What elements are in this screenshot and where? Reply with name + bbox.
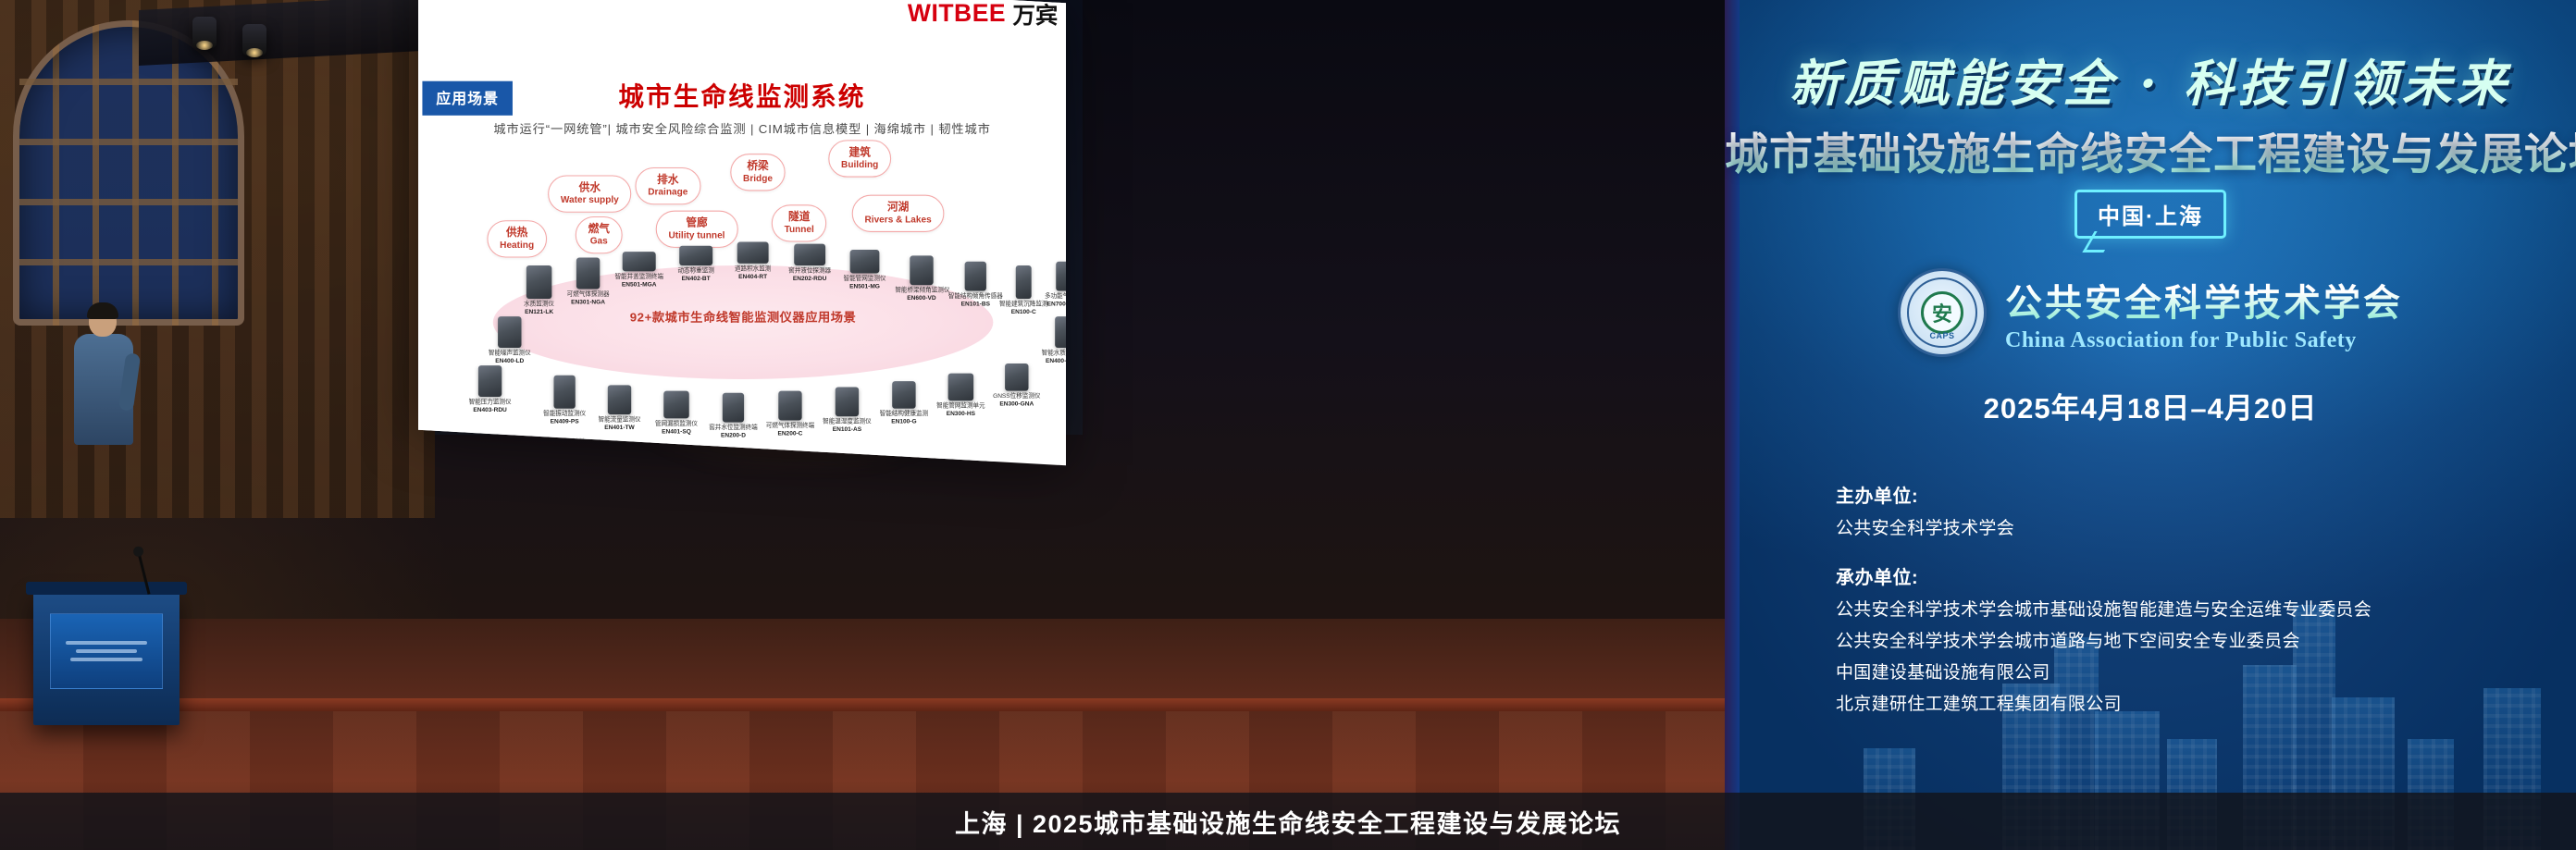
caption-bar: 上海 | 2025城市基础设施生命线安全工程建设与发展论坛 xyxy=(0,793,2576,850)
speaker-person xyxy=(72,305,137,444)
podium-text-line xyxy=(66,641,147,645)
device-item: GNSS位移监测仪 EN300-GNA xyxy=(989,363,1044,407)
caps-seal-abbr: CAPS xyxy=(1901,331,1984,340)
scenario-bubble-rivers-lakes: 河湖 Rivers & Lakes xyxy=(852,195,945,232)
device-item: 智能流量监测仪 EN401-TW xyxy=(593,385,646,431)
device-band-label: 92+款城市生命线智能监测仪器应用场景 xyxy=(493,307,994,326)
podium-top-surface xyxy=(26,582,187,595)
podium-branding-panel xyxy=(50,613,163,689)
organizer-block: 主办单位: 公共安全科学技术学会 承办单位: 公共安全科学技术学会城市基础设施智… xyxy=(1836,481,2372,721)
scenario-bubble-utility-tunnel: 管廊 Utility tunnel xyxy=(656,211,738,248)
stage-edge-trim xyxy=(0,698,1730,711)
organizer-name: 公共安全科学技术学会城市道路与地下空间安全专业委员会 xyxy=(1836,627,2372,652)
device-item: 智能桥梁倾角监测仪 EN600-VD xyxy=(895,255,947,302)
hall-arched-window xyxy=(13,20,244,326)
podium xyxy=(33,591,180,725)
presentation-slide: WITBEE 万宾 应用场景 城市生命线监测系统 城市运行“一网统管”| 城市安… xyxy=(418,0,1066,462)
device-item: 动态称重监测 EN402-BT xyxy=(670,246,723,282)
host-name: 公共安全科学技术学会 xyxy=(1836,514,2372,539)
device-item: 水质监测仪 EN121-LK xyxy=(513,265,565,315)
podium-text-line xyxy=(70,658,142,661)
association-name-chinese: 公共安全科学技术学会 xyxy=(2005,273,2403,326)
scenario-bubble-heating: 供热 Heating xyxy=(487,220,546,257)
organizer-name: 北京建研住工建筑工程集团有限公司 xyxy=(1836,690,2372,715)
device-item: 智能管网监测仪 EN501-MG xyxy=(838,250,891,289)
witbee-logo: WITBEE 万宾 xyxy=(908,0,1058,31)
conference-photo: WITBEE 万宾 应用场景 城市生命线监测系统 城市运行“一网统管”| 城市安… xyxy=(0,0,2576,850)
scenario-bubble-bridge: 桥梁 Bridge xyxy=(730,154,785,191)
device-item: 管网漏损监测仪 EN401-SQ xyxy=(650,391,702,435)
banner-main-title: 城市基础设施生命线安全工程建设与发展论坛 xyxy=(1725,118,2576,182)
device-item: 智能压力监测仪 EN403-RDU xyxy=(464,365,516,413)
stage-spotlight xyxy=(192,17,217,48)
scenario-bubble-drainage: 排水 Drainage xyxy=(635,167,700,204)
slide-title: 城市生命线监测系统 xyxy=(418,77,1066,113)
banner-calligraphy-slogan: 新质赋能安全 · 科技引领未来 xyxy=(1725,43,2576,116)
organizer-name: 公共安全科学技术学会城市基础设施智能建造与安全运维专业委员会 xyxy=(1836,596,2372,621)
device-item: 智能水质监测仪 EN400-LWQ xyxy=(1034,316,1066,364)
device-item: 智能井盖监测终端 EN501-MGA xyxy=(613,252,665,288)
witbee-logo-chinese: 万宾 xyxy=(1013,0,1059,31)
city-location-badge: 中国·上海 xyxy=(2074,190,2226,239)
scenario-bubble-water-supply: 供水 Water supply xyxy=(548,175,631,212)
podium-text-line xyxy=(76,649,137,653)
caption-text: 上海 | 2025城市基础设施生命线安全工程建设与发展论坛 xyxy=(955,804,1621,840)
device-item: 智能噪声监测仪 EN400-LD xyxy=(483,316,536,364)
device-item: 智能结构健康监测 EN100-G xyxy=(877,381,930,425)
association-name-english: China Association for Public Safety xyxy=(2005,328,2403,353)
device-item: 智能振动监测仪 EN409-PS xyxy=(539,376,591,425)
device-item: 可燃气体探测终端 EN200-C xyxy=(763,391,816,437)
device-item: 窖井水位监测终端 EN200-D xyxy=(707,393,760,439)
caps-seal-logo: 安 CAPS xyxy=(1898,268,1987,357)
device-item: 道路积水监测 EN404-RT xyxy=(726,242,779,280)
device-item: 可燃气体探测器 EN301-NGA xyxy=(562,258,614,306)
host-label: 主办单位: xyxy=(1836,481,2372,508)
led-wall-screen: WITBEE 万宾 应用场景 城市生命线监测系统 城市运行“一网统管”| 城市安… xyxy=(418,0,1066,465)
organizer-name: 中国建设基础设施有限公司 xyxy=(1836,659,2372,684)
speaker-hair xyxy=(87,302,118,319)
banner-event-date: 2025年4月18日–4月20日 xyxy=(1725,385,2576,426)
slide-subtitle: 城市运行“一网统管”| 城市安全风险综合监测 | CIM城市信息模型 | 海绵城… xyxy=(418,118,1066,137)
device-item: 窖井液位探测器 EN202-RDU xyxy=(784,244,836,282)
device-item: 智能温湿度监测仪 EN101-AS xyxy=(821,387,873,433)
witbee-logo-latin: WITBEE xyxy=(908,0,1006,28)
organizer-spacer xyxy=(1836,546,2372,562)
device-item: 多功能气象站 EN700-MW xyxy=(1034,262,1066,308)
scenario-bubble-gas: 燃气 Gas xyxy=(576,216,623,253)
device-item: 智能管网监测单元 EN300-HS xyxy=(935,374,987,417)
caps-seal-glyph: 安 xyxy=(1921,291,1963,334)
scenario-bubble-building: 建筑 Building xyxy=(828,140,891,177)
association-lockup: 安 CAPS 公共安全科学技术学会 China Association for … xyxy=(1898,268,2403,357)
conference-banner: 新质赋能安全 · 科技引领未来 城市基础设施生命线安全工程建设与发展论坛 中国·… xyxy=(1725,0,2576,850)
association-names: 公共安全科学技术学会 China Association for Public … xyxy=(2005,273,2403,353)
organizer-label: 承办单位: xyxy=(1836,562,2372,589)
scenario-bubble-tunnel: 隧道 Tunnel xyxy=(772,204,827,241)
stage-spotlight xyxy=(242,24,266,55)
